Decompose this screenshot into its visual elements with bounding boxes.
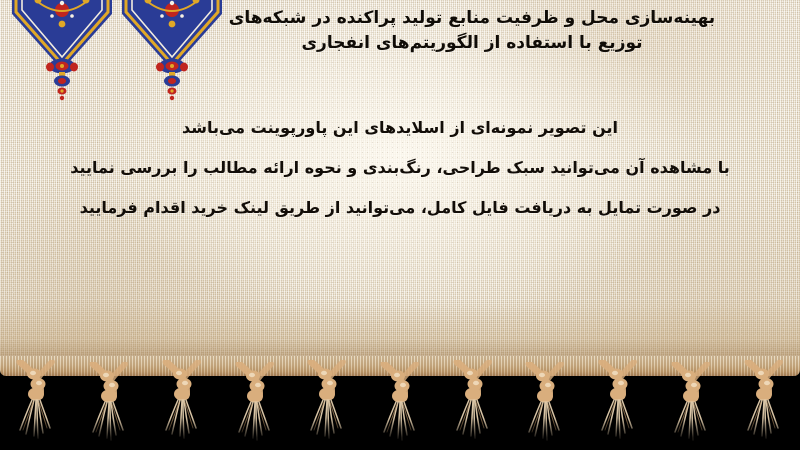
slide-title-line-1: بهینه‌سازی محل و ظرفیت منابع تولید پراکن… bbox=[172, 6, 772, 31]
slide-body-line-1: این تصویر نمونه‌ای از اسلایدهای این پاور… bbox=[0, 108, 800, 148]
presentation-slide: بهینه‌سازی محل و ظرفیت منابع تولید پراکن… bbox=[0, 0, 800, 450]
carpet-fringe bbox=[0, 356, 800, 450]
slide-title: بهینه‌سازی محل و ظرفیت منابع تولید پراکن… bbox=[172, 6, 772, 56]
slide-body-line-2: با مشاهده آن می‌توانید سبک طراحی، رنگ‌بن… bbox=[0, 148, 800, 188]
slide-title-line-2: توزیع با استفاده از الگوریتم‌های انفجاری bbox=[172, 31, 772, 56]
slide-body-line-3: در صورت تمایل به دریافت فایل کامل، می‌تو… bbox=[0, 188, 800, 228]
slide-text-layer: بهینه‌سازی محل و ظرفیت منابع تولید پراکن… bbox=[0, 0, 800, 372]
fringe-shadow-overlay bbox=[0, 418, 800, 450]
slide-body: این تصویر نمونه‌ای از اسلایدهای این پاور… bbox=[0, 108, 800, 228]
